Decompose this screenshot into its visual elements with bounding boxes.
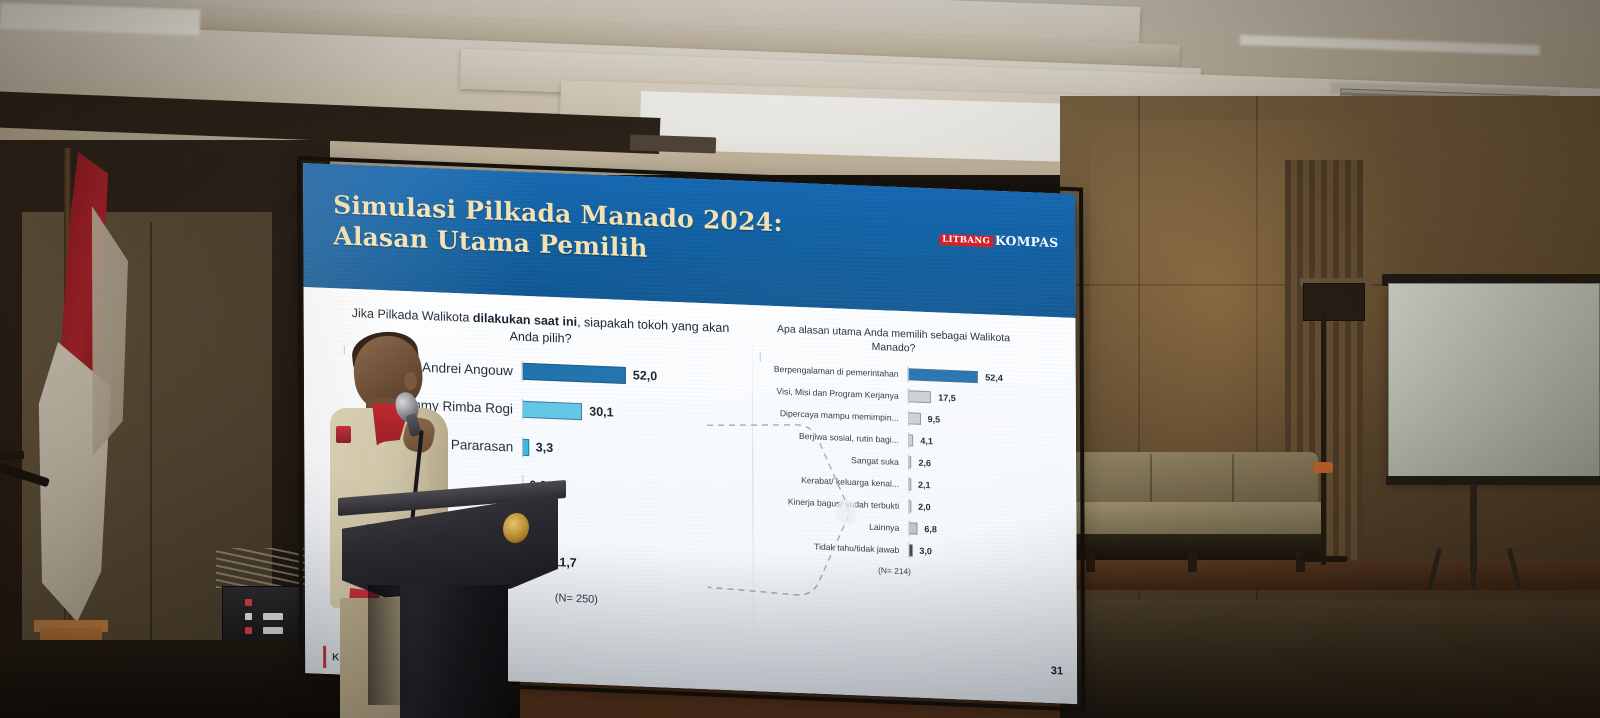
bar-track: 2,0	[908, 500, 1028, 517]
ear	[404, 372, 417, 390]
bar-track: 6,8	[908, 522, 1028, 539]
bar-track: 52,0	[522, 362, 738, 388]
bar-track: 2,6	[908, 456, 1028, 473]
bar-row: Tidak tahu/tidak jawab3,0	[760, 538, 1028, 561]
projector-screen	[1388, 283, 1600, 481]
bar-track: 9,5	[908, 412, 1028, 429]
bar-value-label: 4,1	[920, 436, 933, 447]
bar-value-label: 9,5	[928, 414, 941, 425]
bar-value-label: 2,1	[918, 480, 931, 491]
bar	[908, 368, 979, 383]
bar-category-label: Sangat suka	[760, 451, 908, 467]
logo-litbang-badge: LITBANG	[939, 233, 993, 247]
bar-value-label: 52,4	[985, 372, 1003, 383]
podium-column	[400, 585, 508, 718]
podium	[338, 489, 566, 718]
axis-line	[908, 410, 909, 426]
indonesian-flag	[34, 152, 120, 622]
microphone-stand-base	[1300, 556, 1348, 562]
logo-kompas-word: KOMPAS	[995, 235, 1058, 250]
bar-track: 52,4	[908, 368, 1028, 385]
sofa-cushion	[1072, 502, 1324, 536]
axis-line	[908, 432, 909, 448]
axis-line	[908, 388, 909, 404]
bar	[908, 390, 932, 403]
podium-shadow	[368, 585, 416, 705]
axis-line	[522, 360, 523, 381]
axis-line	[908, 520, 909, 536]
microphone-stand-head	[1313, 462, 1333, 473]
bar-row: Lainnya6,8	[760, 516, 1028, 539]
sofa-leg	[1188, 552, 1197, 572]
sofa-seam	[1150, 454, 1152, 508]
question-prefix: Jika Pilkada Walikota	[352, 306, 473, 325]
bar-category-label: Dipercaya mampu memimpin...	[760, 407, 908, 423]
axis-line	[908, 542, 909, 558]
bar-value-label: 6,8	[924, 524, 937, 535]
axis-line	[908, 366, 909, 382]
sofa-leg	[1086, 552, 1095, 572]
status-led	[245, 613, 252, 620]
status-led	[245, 627, 252, 634]
shoulder-patch	[336, 426, 351, 443]
question-emphasis: dilakukan saat ini	[473, 311, 577, 329]
axis-tick	[759, 352, 760, 361]
footer-accent-bar	[323, 646, 326, 668]
floor-right	[1060, 600, 1600, 718]
right-chart-sample-note: (N= 214)	[760, 560, 1028, 581]
bar	[908, 522, 917, 534]
bar-track: 4,1	[908, 434, 1028, 451]
bar-track: 30,1	[522, 400, 738, 426]
projector-screen-bottom-bar	[1386, 476, 1600, 485]
tripod-leg	[1471, 548, 1476, 590]
wall-seam	[150, 222, 152, 672]
sofa-seam	[1232, 454, 1234, 508]
status-led	[263, 627, 283, 634]
bar-row: Kinerja bagus/ sudah terbukti2,0	[760, 494, 1028, 517]
bar	[522, 400, 582, 419]
slide-page-number: 31	[1051, 665, 1063, 677]
av-equipment-rack	[222, 586, 318, 648]
ceiling-light	[1240, 35, 1540, 55]
bar	[522, 362, 626, 383]
axis-line	[908, 476, 909, 492]
bar-value-label: 17,5	[938, 392, 956, 403]
bar-category-label: Lainnya	[760, 517, 908, 533]
axis-line	[522, 398, 523, 419]
conference-room-scene: Simulasi Pilkada Manado 2024: Alasan Uta…	[0, 0, 1600, 718]
bar-category-label: Kinerja bagus/ sudah terbukti	[760, 495, 908, 511]
litbang-kompas-logo: LITBANG KOMPAS	[939, 233, 1058, 250]
bar-value-label: 30,1	[589, 404, 613, 419]
bar-category-label: Tidak tahu/tidak jawab	[760, 539, 908, 555]
right-chart-question: Apa alasan utama Anda memilih sebagai Wa…	[759, 321, 1027, 361]
bar-value-label: 2,0	[918, 502, 931, 513]
status-led	[263, 613, 283, 620]
bar-track: 3,3	[522, 438, 738, 464]
axis-line	[908, 454, 909, 470]
bar-track: 17,5	[908, 390, 1028, 407]
bar-category-label: Visi, Misi dan Program Kerjanya	[760, 385, 908, 401]
bar-track: 3,0	[908, 544, 1028, 561]
axis-line	[522, 436, 523, 457]
right-chart-bars: Berpengalaman di pemerintahan52,4Visi, M…	[760, 362, 1029, 561]
left-chart-sample-note: (N= 250)	[555, 592, 739, 611]
bar-row: Sangat suka2,6	[760, 450, 1028, 473]
bar-category-label: Berpengalaman di pemerintahan	[760, 363, 908, 379]
bar-row: Visi, Misi dan Program Kerjanya17,5	[760, 384, 1028, 407]
bar-category-label: Kerabat/ keluarga kenal...	[760, 473, 908, 489]
wall-speaker-box	[1303, 283, 1365, 321]
bar-track: 2,1	[908, 478, 1028, 495]
status-led	[245, 599, 252, 606]
sofa-leg	[1296, 552, 1305, 572]
bar-row: Dipercaya mampu memimpin...9,5	[760, 406, 1028, 429]
bar-value-label: 2,6	[918, 458, 931, 469]
bar-category-label: Berjiwa sosial, rutin bagi...	[760, 429, 908, 445]
ceiling-fixture	[630, 135, 717, 154]
bar-row: Berpengalaman di pemerintahan52,4	[760, 362, 1028, 385]
bar	[908, 412, 921, 425]
slide-title: Simulasi Pilkada Manado 2024: Alasan Uta…	[333, 190, 783, 269]
bar-row: Berjiwa sosial, rutin bagi...4,1	[760, 428, 1028, 451]
axis-line	[908, 498, 909, 514]
microphone-stand	[1321, 315, 1326, 565]
bar-row: Kerabat/ keluarga kenal...2,1	[760, 472, 1028, 495]
right-chart-panel: Apa alasan utama Anda memilih sebagai Wa…	[751, 321, 1077, 704]
bar-value-label: 3,0	[919, 546, 932, 557]
sofa	[1068, 452, 1330, 562]
sofa-shadow	[1070, 534, 1326, 560]
bar-value-label: 52,0	[633, 368, 657, 383]
bar-value-label: 3,3	[536, 440, 553, 455]
